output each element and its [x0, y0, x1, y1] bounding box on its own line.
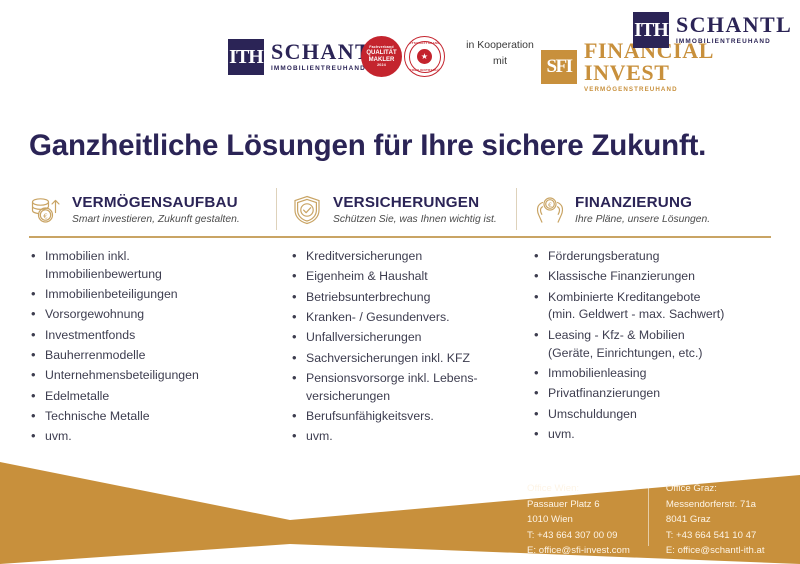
- column-titles-finanzierung: FINANZIERUNG Ihre Pläne, unsere Lösungen…: [575, 194, 710, 226]
- list-item-text: Technische Metalle: [45, 409, 150, 423]
- list-item: Bauherrenmodelle: [29, 347, 276, 365]
- coins-euro-growth-icon: €: [29, 193, 63, 227]
- list-item-text: Immobilienbeteiligungen: [45, 287, 178, 301]
- list-item: Umschuldungen: [532, 406, 771, 424]
- column-title: VERMÖGENSAUFBAU: [72, 194, 240, 211]
- shield-check-icon: [290, 193, 324, 227]
- list-item-continuation: Immobilienbewertung: [45, 266, 276, 284]
- list-item-text: Leasing - Kfz- & Mobilien: [548, 328, 685, 342]
- service-lists: Immobilien inkl.ImmobilienbewertungImmob…: [29, 248, 771, 449]
- office-graz-name: Office Graz:: [666, 481, 765, 497]
- ith-monogram-text-top: ITH: [634, 20, 668, 40]
- list-item: Investmentfonds: [29, 327, 276, 345]
- list-item: Immobilien inkl.Immobilienbewertung: [29, 248, 276, 284]
- office-graz: Office Graz: Messendorferstr. 71a 8041 G…: [648, 481, 765, 559]
- list-item: Eigenheim & Haushalt: [290, 268, 516, 286]
- column-finanzierung: € FINANZIERUNG Ihre Pläne, unsere Lösung…: [516, 188, 771, 232]
- list-item: Betriebsunterbrechung: [290, 289, 516, 307]
- column-header-vermoegensaufbau: € VERMÖGENSAUFBAU Smart investieren, Zuk…: [29, 188, 276, 232]
- list-item-text: Förderungsberatung: [548, 249, 659, 263]
- office-wien-name: Office Wien:: [527, 481, 630, 497]
- seal-white-bottom: IMMOBILIENTREUHÄNDER: [405, 68, 444, 72]
- gold-divider-rule: [29, 236, 771, 238]
- column-header-versicherungen: VERSICHERUNGEN Schützen Sie, was Ihnen w…: [290, 188, 516, 232]
- list-versicherungen: KreditversicherungenEigenheim & Haushalt…: [276, 248, 516, 449]
- list-item: Berufsunfähigkeitsvers.: [290, 408, 516, 426]
- list-item: Kombinierte Kreditangebote(min. Geldwert…: [532, 289, 771, 325]
- list-item-continuation: versicherungen: [306, 388, 516, 406]
- column-subtitle: Ihre Pläne, unsere Lösungen.: [575, 214, 710, 226]
- office-wien-city: 1010 Wien: [527, 512, 630, 528]
- ith-monogram-text: ITH: [229, 47, 263, 67]
- list-item-text: Vorsorgewohnung: [45, 307, 144, 321]
- qualitaetsmakler-seal-icon: Fachverband QUALITÄT MAKLER 2024: [361, 36, 402, 77]
- column-subtitle: Smart investieren, Zukunft gestalten.: [72, 214, 240, 226]
- schantl-name-top: SCHANTL: [676, 14, 792, 36]
- list-item-text: Klassische Finanzierungen: [548, 269, 695, 283]
- footer-contact-block: Office Wien: Passauer Platz 6 1010 Wien …: [527, 481, 765, 559]
- list-finanzierung: FörderungsberatungKlassische Finanzierun…: [516, 248, 771, 449]
- list-item-text: Kombinierte Kreditangebote: [548, 290, 700, 304]
- sfi-monogram-text: SFI: [546, 57, 571, 76]
- column-titles-versicherungen: VERSICHERUNGEN Schützen Sie, was Ihnen w…: [333, 194, 497, 226]
- list-item: Unfallversicherungen: [290, 329, 516, 347]
- page-headline: Ganzheitliche Lösungen für Ihre sichere …: [29, 129, 706, 163]
- seal-red-bottom: 2024: [377, 63, 386, 68]
- ith-monogram-icon-top: ITH: [633, 12, 669, 48]
- list-item-text: Berufsunfähigkeitsvers.: [306, 409, 434, 423]
- schantl-wordmark-top: SCHANTL IMMOBILIENTREUHAND: [676, 14, 792, 45]
- svg-text:€: €: [548, 201, 552, 209]
- list-item: Vorsorgewohnung: [29, 306, 276, 324]
- column-title: VERSICHERUNGEN: [333, 194, 497, 211]
- list-item: Sachversicherungen inkl. KFZ: [290, 350, 516, 368]
- list-item: Unternehmensbeteiligungen: [29, 367, 276, 385]
- list-item: Privatfinanzierungen: [532, 385, 771, 403]
- list-item-text: Kreditversicherungen: [306, 249, 422, 263]
- list-item-text: Immobilien inkl.: [45, 249, 130, 263]
- column-versicherungen: VERSICHERUNGEN Schützen Sie, was Ihnen w…: [276, 188, 516, 232]
- list-item-text: Immobilienleasing: [548, 366, 646, 380]
- list-item-text: Investmentfonds: [45, 328, 135, 342]
- sfi-tagline: VERMÖGENSTREUHAND: [584, 87, 800, 93]
- list-item: Edelmetalle: [29, 388, 276, 406]
- list-item-text: Edelmetalle: [45, 389, 109, 403]
- list-item: Kreditversicherungen: [290, 248, 516, 266]
- svg-text:€: €: [43, 212, 47, 220]
- list-item: Immobilienbeteiligungen: [29, 286, 276, 304]
- office-wien: Office Wien: Passauer Platz 6 1010 Wien …: [527, 481, 630, 559]
- list-vermoegensaufbau: Immobilien inkl.ImmobilienbewertungImmob…: [29, 248, 276, 449]
- column-titles-vermoegensaufbau: VERMÖGENSAUFBAU Smart investieren, Zukun…: [72, 194, 240, 226]
- seal-white-top: WIRTSCHAFTSKAMMER: [405, 41, 444, 45]
- logo-schantl-immobilientreuhand-top: ITH SCHANTL IMMOBILIENTREUHAND: [633, 12, 792, 48]
- list-item: Förderungsberatung: [532, 248, 771, 266]
- list-item-text: Bauherrenmodelle: [45, 348, 146, 362]
- ith-monogram-icon: ITH: [228, 39, 264, 75]
- list-item: Klassische Finanzierungen: [532, 268, 771, 286]
- schantl-tagline-top: IMMOBILIENTREUHAND: [676, 39, 792, 45]
- list-item-text: Unternehmensbeteiligungen: [45, 368, 199, 382]
- list-item: Pensionsvorsorge inkl. Lebens-versicheru…: [290, 370, 516, 406]
- list-item-text: Sachversicherungen inkl. KFZ: [306, 351, 470, 365]
- list-item-text: Umschuldungen: [548, 407, 637, 421]
- service-column-headers: € VERMÖGENSAUFBAU Smart investieren, Zuk…: [29, 188, 771, 232]
- list-item-text: Kranken- / Gesundenvers.: [306, 310, 450, 324]
- hands-holding-euro-icon: €: [532, 193, 566, 227]
- office-wien-phone[interactable]: T: +43 664 307 00 09: [527, 528, 630, 544]
- office-graz-street: Messendorferstr. 71a: [666, 497, 765, 513]
- list-item: Leasing - Kfz- & Mobilien(Geräte, Einric…: [532, 327, 771, 363]
- column-vermoegensaufbau: € VERMÖGENSAUFBAU Smart investieren, Zuk…: [29, 188, 276, 232]
- flyer-page: ITH SCHANTL IMMOBILIENTREUHAND Fachverba…: [0, 0, 800, 564]
- list-item-text: Unfallversicherungen: [306, 330, 422, 344]
- office-graz-email[interactable]: E: office@schantl-ith.at: [666, 543, 765, 559]
- logo-bar: ITH SCHANTL IMMOBILIENTREUHAND Fachverba…: [0, 0, 800, 100]
- sfi-monogram-icon: SFI: [541, 50, 577, 84]
- list-item-continuation: (Geräte, Einrichtungen, etc.): [548, 345, 771, 363]
- office-wien-street: Passauer Platz 6: [527, 497, 630, 513]
- column-title: FINANZIERUNG: [575, 194, 710, 211]
- cooperation-label: in Kooperation mit: [465, 38, 535, 70]
- austria-crest-icon: ★: [417, 49, 432, 64]
- list-item-continuation: (min. Geldwert - max. Sachwert): [548, 306, 771, 324]
- column-header-finanzierung: € FINANZIERUNG Ihre Pläne, unsere Lösung…: [532, 188, 771, 232]
- office-graz-city: 8041 Graz: [666, 512, 765, 528]
- list-item-text: uvm.: [548, 427, 575, 441]
- list-item: Kranken- / Gesundenvers.: [290, 309, 516, 327]
- office-graz-phone[interactable]: T: +43 664 541 10 47: [666, 528, 765, 544]
- list-item: Immobilienleasing: [532, 365, 771, 383]
- list-item-text: Pensionsvorsorge inkl. Lebens-: [306, 371, 478, 385]
- column-subtitle: Schützen Sie, was Ihnen wichtig ist.: [333, 214, 497, 226]
- list-item: Technische Metalle: [29, 408, 276, 426]
- list-item-text: Eigenheim & Haushalt: [306, 269, 428, 283]
- list-item-text: Betriebsunterbrechung: [306, 290, 430, 304]
- list-item-text: Privatfinanzierungen: [548, 386, 660, 400]
- office-wien-email[interactable]: E: office@sfi-invest.com: [527, 543, 630, 559]
- wirtschaftskammer-seal-icon: WIRTSCHAFTSKAMMER ★ IMMOBILIENTREUHÄNDER: [404, 36, 445, 77]
